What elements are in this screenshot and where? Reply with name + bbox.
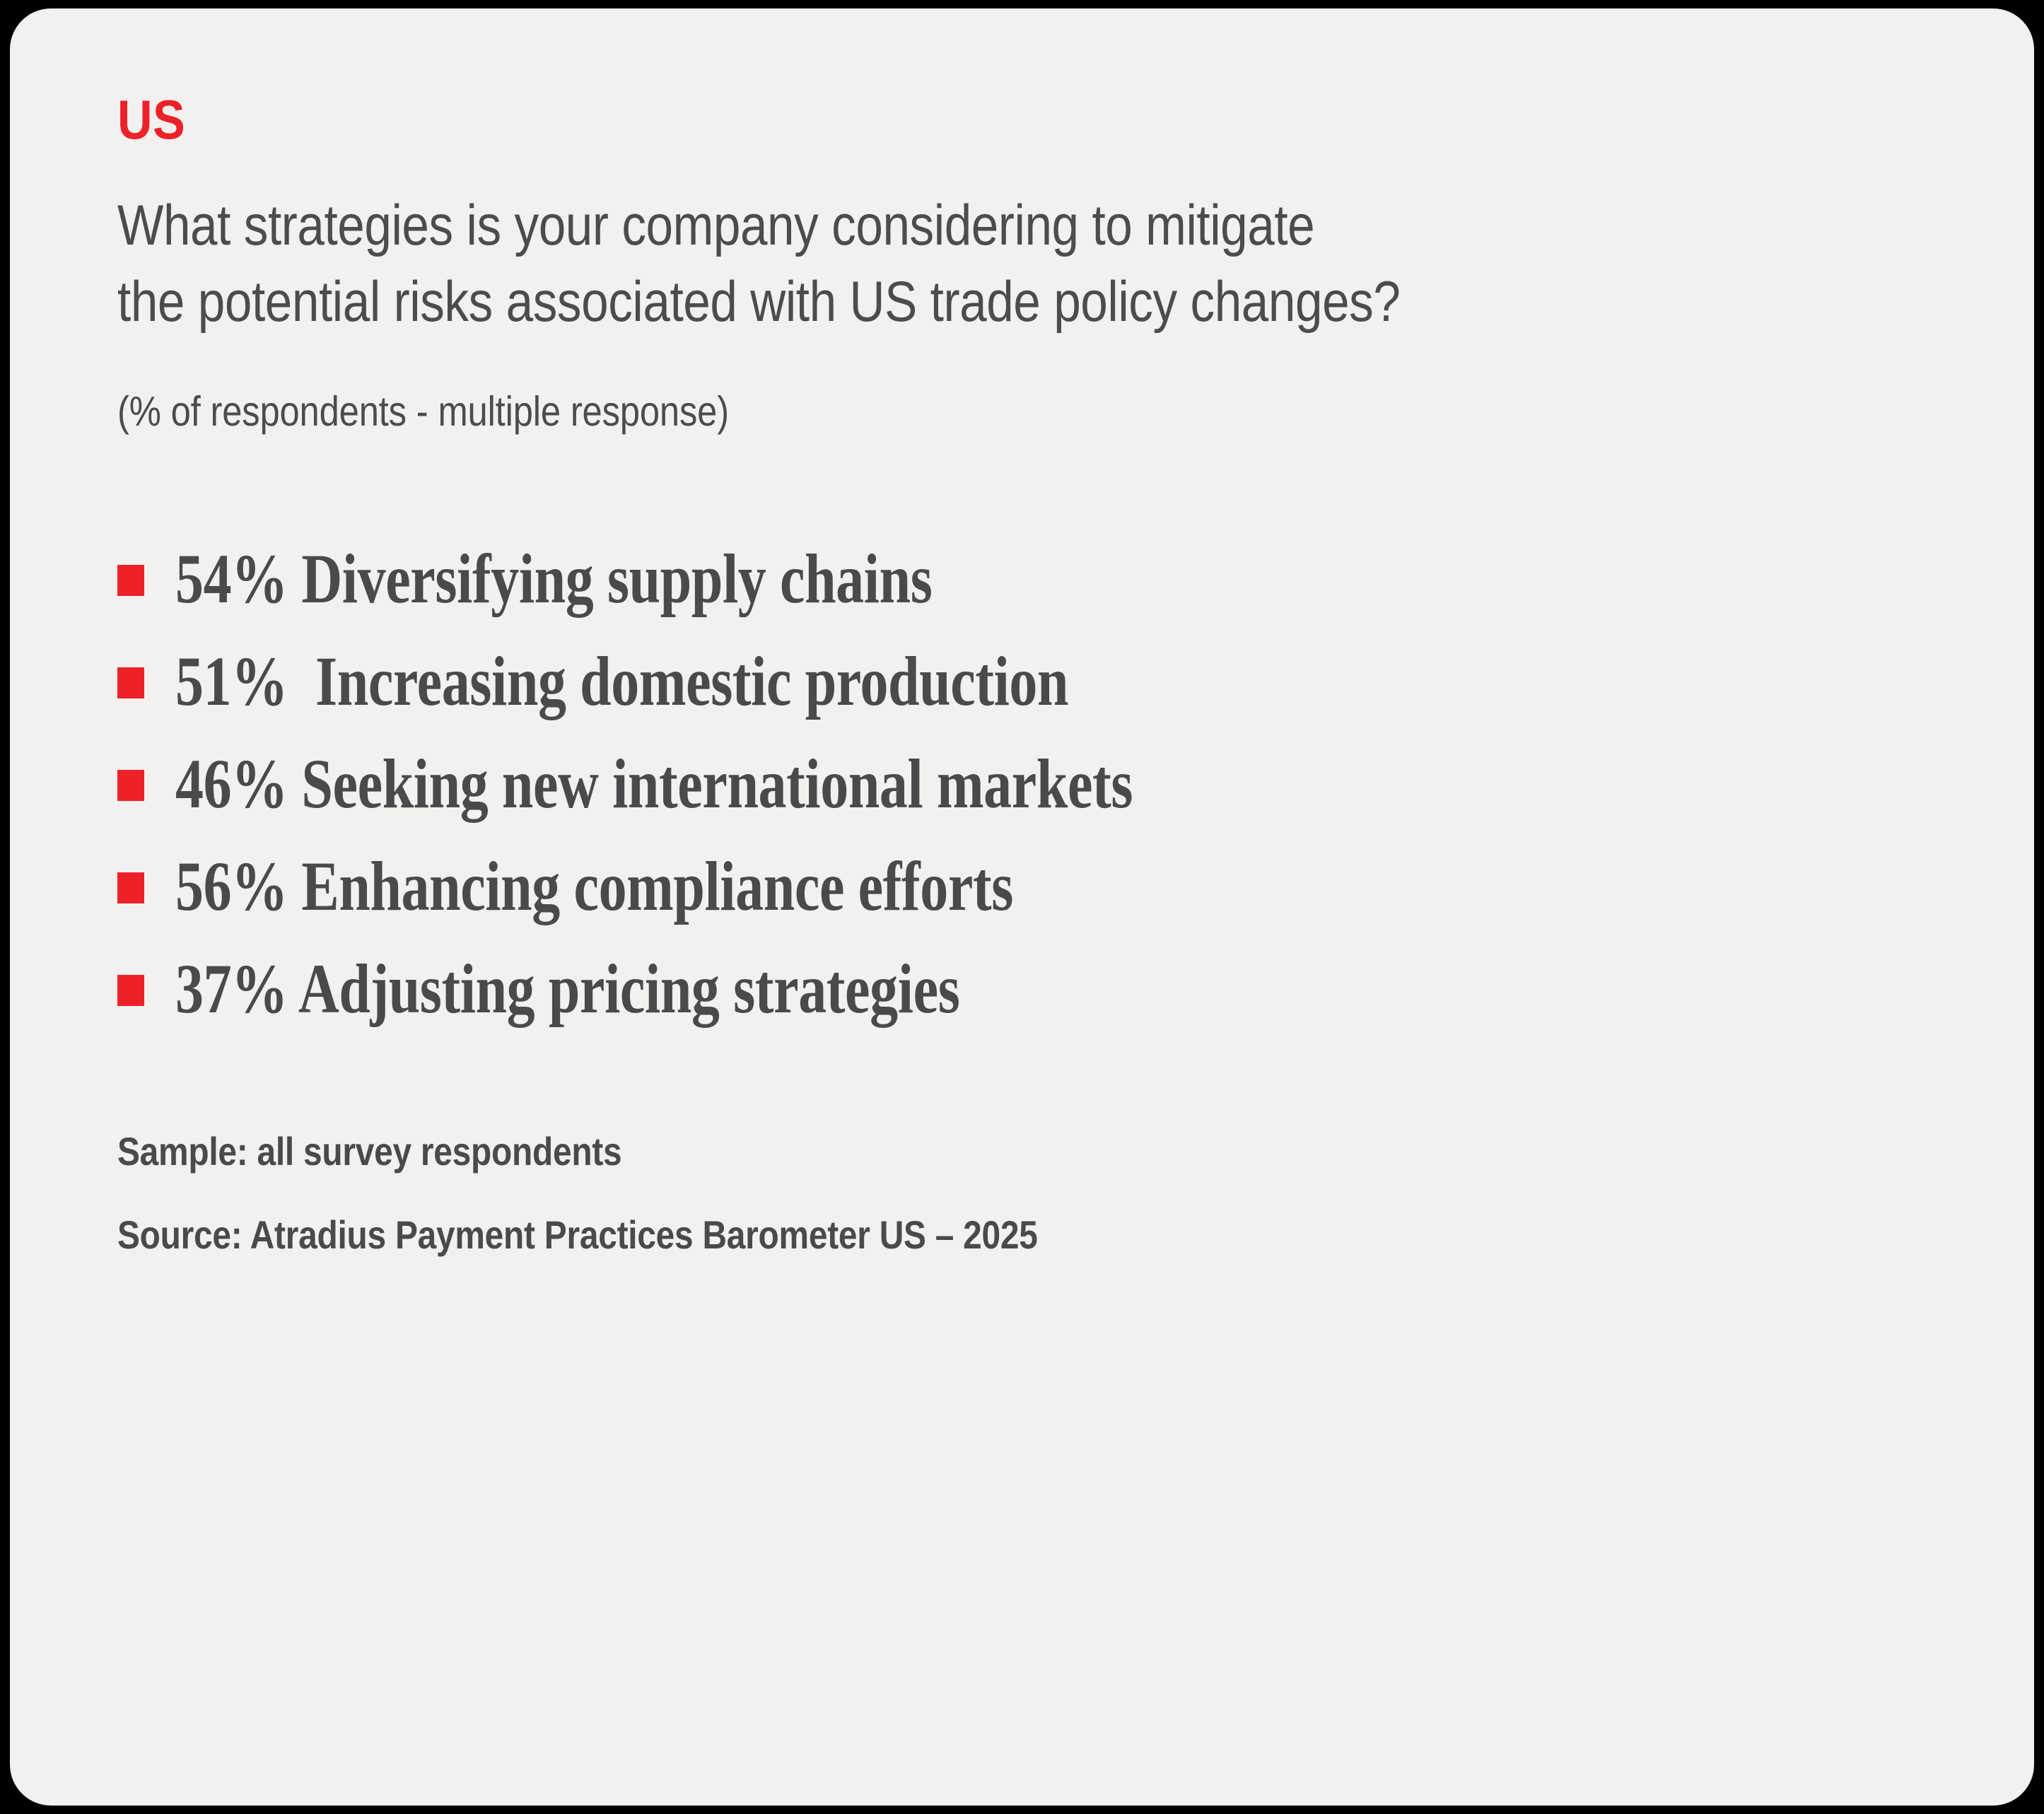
list-item: 37% Adjusting pricing strategies bbox=[117, 937, 1970, 1040]
bullet-square-icon bbox=[117, 770, 144, 801]
source-note: Source: Atradius Payment Practices Barom… bbox=[117, 1215, 1971, 1255]
list-item-label: 46% Seeking new international markets bbox=[175, 749, 1133, 819]
question-line-1: What strategies is your company consider… bbox=[117, 188, 1971, 264]
bullet-square-icon bbox=[117, 975, 144, 1006]
list-item: 46% Seeking new international markets bbox=[117, 732, 1970, 835]
question-line-2: the potential risks associated with US t… bbox=[117, 264, 1971, 341]
sample-note: Sample: all survey respondents bbox=[117, 1132, 1971, 1171]
list-item-label: 56% Enhancing compliance efforts bbox=[175, 851, 1013, 922]
bullet-square-icon bbox=[117, 565, 144, 596]
list-item: 51% Increasing domestic production bbox=[117, 630, 1970, 732]
question-subtitle: (% of respondents - multiple response) bbox=[117, 387, 1966, 437]
bullet-square-icon bbox=[117, 872, 144, 903]
list-item-label: 37% Adjusting pricing strategies bbox=[175, 954, 959, 1024]
list-item: 56% Enhancing compliance efforts bbox=[117, 835, 1970, 937]
bullet-square-icon bbox=[117, 667, 144, 698]
list-item-label: 51% Increasing domestic production bbox=[175, 646, 1068, 717]
country-tag: US bbox=[117, 92, 1748, 147]
list-item: 54% Diversifying supply chains bbox=[117, 527, 1970, 630]
question-title: What strategies is your company consider… bbox=[117, 188, 1971, 340]
card-content: US What strategies is your company consi… bbox=[117, 92, 1970, 1255]
strategy-list: 54% Diversifying supply chains 51% Incre… bbox=[117, 527, 1970, 1040]
footer: Sample: all survey respondents Source: A… bbox=[117, 1132, 1970, 1255]
infographic-card: US What strategies is your company consi… bbox=[10, 8, 2034, 1806]
list-item-label: 54% Diversifying supply chains bbox=[175, 544, 932, 614]
